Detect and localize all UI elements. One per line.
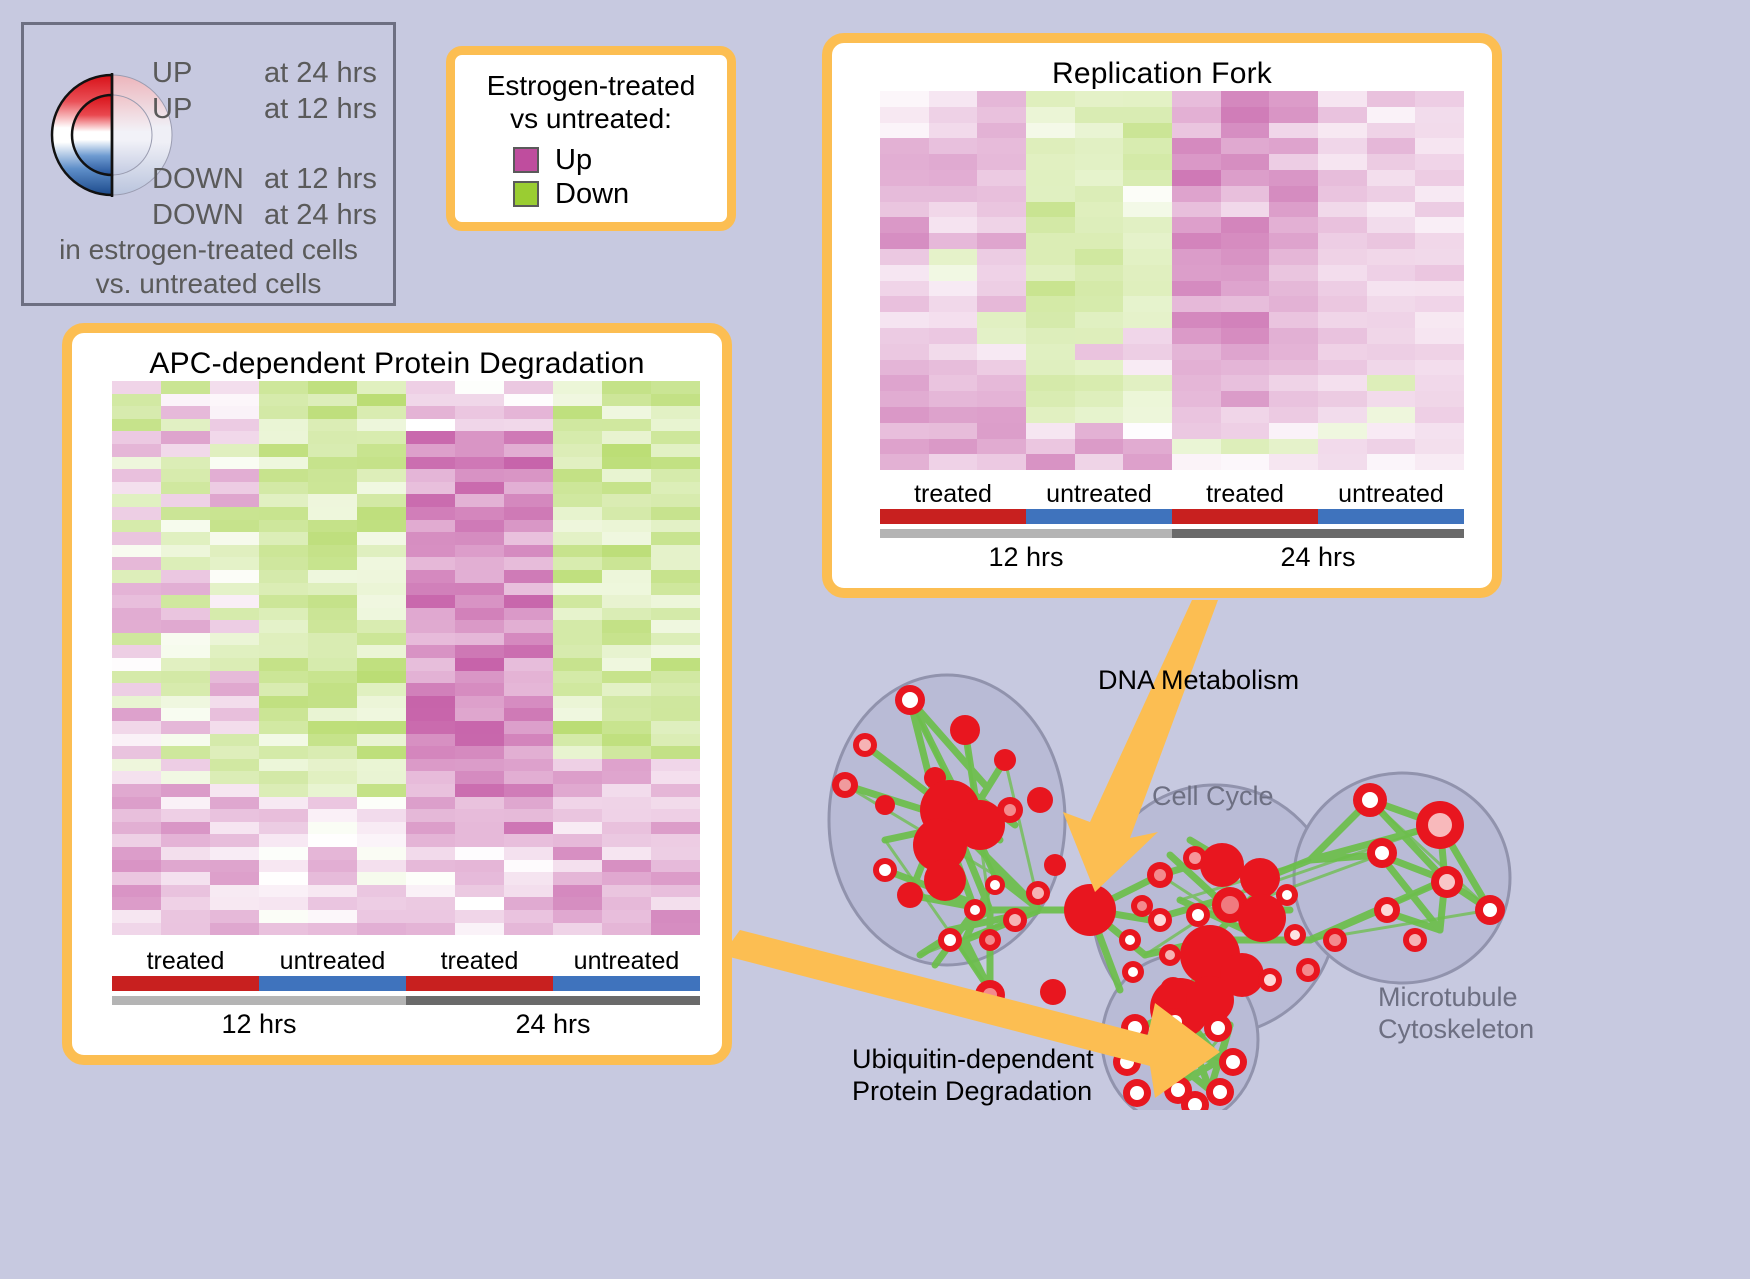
heatmap-cell [455,520,504,533]
heatmap-cell [1221,107,1270,123]
heatmap-cell [504,746,553,759]
heatmap-cell [602,784,651,797]
heatmap-cell [357,847,406,860]
heatmap-cell [455,570,504,583]
heatmap-cell [1221,312,1270,328]
time-label: 24 hrs [406,1009,700,1040]
heatmap-row [112,608,700,621]
heatmap-row [880,202,1464,218]
heatmap-cell [308,746,357,759]
heatmap-cell [1172,296,1221,312]
heatmap-cell [161,683,210,696]
heatmap-cell [553,885,602,898]
heatmap-cell [210,645,259,658]
heatmap-cell [880,391,929,407]
heatmap-cell [455,721,504,734]
heatmap-cell [1415,186,1464,202]
heatmap-cell [161,809,210,822]
heatmap-cell [161,797,210,810]
heatmap-cell [977,391,1026,407]
heatmap-cell [651,897,700,910]
heatmap-cell [210,620,259,633]
heatmap-cell [651,419,700,432]
heatmap-cell [112,457,161,470]
heatmap-cell [1269,360,1318,376]
heatmap-cell [651,885,700,898]
heatmap-cell [602,771,651,784]
heatmap-cell [1172,107,1221,123]
condition-label: treated [1172,480,1318,509]
heatmap-cell [1221,138,1270,154]
heatmap-cell [406,784,455,797]
heatmap-cell [602,583,651,596]
panel-replication-fork: Replication Fork treated untreated treat… [822,33,1502,598]
heatmap-cell [112,645,161,658]
heatmap-cell [977,328,1026,344]
heatmap-cell [602,847,651,860]
heatmap-cell [210,570,259,583]
heatmap-cell [406,419,455,432]
heatmap-cell [553,419,602,432]
heatmap-cell [651,545,700,558]
heatmap-cell [308,469,357,482]
heatmap-cell [880,312,929,328]
heatmap-cell [357,910,406,923]
heatmap-cell [1318,375,1367,391]
heatmap-cell [455,797,504,810]
condition-label: treated [880,480,1026,509]
heatmap-row [112,545,700,558]
heatmap-replication-fork [832,91,1492,470]
time-label: 12 hrs [880,542,1172,573]
heatmap-cell [602,520,651,533]
heatmap-row [112,633,700,646]
heatmap-cell [259,834,308,847]
heatmap-cell [1318,281,1367,297]
network-node [1040,979,1066,1005]
heatmap-cell [259,482,308,495]
heatmap-cell [1367,217,1416,233]
heatmap-cell [259,721,308,734]
heatmap-cell [1221,202,1270,218]
heatmap-cell [651,532,700,545]
heatmap-row [880,107,1464,123]
cluster-label-ubiquitin-degradation: Ubiquitin-dependentProtein Degradation [852,1043,1094,1108]
heatmap-cell [455,381,504,394]
heatmap-cell [1026,186,1075,202]
heatmap-cell [553,784,602,797]
heatmap-cell [1269,91,1318,107]
heatmap-cell [880,296,929,312]
heatmap-cell [308,645,357,658]
heatmap-cell [1026,217,1075,233]
heatmap-cell [161,545,210,558]
heatmap-cell [602,645,651,658]
heatmap-cell [504,532,553,545]
legend-time-label: at 24 hrs [264,199,377,232]
heatmap-cell [553,570,602,583]
heatmap-cell [1026,107,1075,123]
heatmap-cell [880,233,929,249]
heatmap-cell [504,708,553,721]
heatmap-cell [210,847,259,860]
heatmap-cell [406,910,455,923]
heatmap-cell [553,620,602,633]
updown-header-line-1: Estrogen-treated [455,69,727,102]
heatmap-cell [651,708,700,721]
heatmap-cell [455,847,504,860]
heatmap-cell [1221,154,1270,170]
heatmap-cell [1415,360,1464,376]
heatmap-cell [651,923,700,936]
heatmap-cell [504,671,553,684]
heatmap-cell [1367,454,1416,470]
condition-label: untreated [553,947,700,976]
heatmap-cell [308,557,357,570]
heatmap-cell [112,734,161,747]
heatmap-cell [553,507,602,520]
heatmap-cell [977,202,1026,218]
up-color-swatch [513,147,539,173]
down-color-swatch [513,181,539,207]
heatmap-cell [308,520,357,533]
network-node [897,882,923,908]
heatmap-cell [161,583,210,596]
heatmap-cell [1172,123,1221,139]
heatmap-cell [112,897,161,910]
heatmap-cell [504,860,553,873]
heatmap-cell [455,885,504,898]
heatmap-cell [308,721,357,734]
heatmap-row [112,645,700,658]
heatmap-cell [929,312,978,328]
heatmap-cell [210,545,259,558]
heatmap-cell [1269,439,1318,455]
heatmap-cell [651,658,700,671]
heatmap-cell [455,658,504,671]
heatmap-cell [357,759,406,772]
heatmap-cell [161,595,210,608]
heatmap-cell [651,608,700,621]
heatmap-cell [1221,186,1270,202]
legend-row: DOWN at 12 hrs [152,161,392,197]
time-color-bar [880,529,1464,538]
heatmap-cell [1221,439,1270,455]
heatmap-cell [259,570,308,583]
heatmap-cell [161,520,210,533]
heatmap-cell [1367,375,1416,391]
heatmap-cell [1269,249,1318,265]
condition-bar-segment [112,976,259,991]
heatmap-cell [406,633,455,646]
heatmap-cell [455,759,504,772]
heatmap-cell [357,557,406,570]
heatmap-cell [602,759,651,772]
heatmap-cell [357,620,406,633]
condition-bar-segment [553,976,700,991]
heatmap-cell [161,897,210,910]
heatmap-row [112,759,700,772]
heatmap-cell [308,797,357,810]
heatmap-cell [308,608,357,621]
heatmap-cell [259,897,308,910]
heatmap-row [112,658,700,671]
heatmap-cell [1026,360,1075,376]
heatmap-cell [455,608,504,621]
heatmap-cell [112,620,161,633]
heatmap-cell [1172,312,1221,328]
heatmap-cell [651,721,700,734]
heatmap-cell [1367,202,1416,218]
heatmap-cell [504,822,553,835]
heatmap-cell [602,683,651,696]
heatmap-cell [651,595,700,608]
heatmap-cell [112,419,161,432]
heatmap-cell [1269,296,1318,312]
heatmap-cell [1123,138,1172,154]
heatmap-cell [210,457,259,470]
heatmap-cell [455,406,504,419]
heatmap-cell [602,860,651,873]
heatmap-cell [259,406,308,419]
heatmap-cell [929,123,978,139]
heatmap-cell [1269,233,1318,249]
heatmap-cell [210,734,259,747]
heatmap-cell [602,608,651,621]
heatmap-cell [406,620,455,633]
heatmap-cell [112,797,161,810]
heatmap-row [880,454,1464,470]
heatmap-cell [406,608,455,621]
heatmap-cell [406,872,455,885]
heatmap-cell [112,494,161,507]
heatmap-row [880,328,1464,344]
heatmap-cell [602,545,651,558]
heatmap-cell [1075,249,1124,265]
heatmap-cell [112,885,161,898]
heatmap-cell [553,482,602,495]
heatmap-cell [880,217,929,233]
heatmap-cell [406,557,455,570]
heatmap-cell [553,696,602,709]
heatmap-cell [1318,344,1367,360]
heatmap-cell [1367,170,1416,186]
heatmap-cell [455,620,504,633]
heatmap-cell [406,683,455,696]
heatmap-row [112,809,700,822]
heatmap-cell [210,809,259,822]
heatmap-cell [455,557,504,570]
heatmap-cell [651,469,700,482]
heatmap-cell [161,444,210,457]
heatmap-cell [553,431,602,444]
heatmap-cell [406,520,455,533]
heatmap-cell [553,469,602,482]
heatmap-cell [357,444,406,457]
heatmap-cell [880,375,929,391]
heatmap-cell [406,809,455,822]
heatmap-cell [977,249,1026,265]
heatmap-cell [406,494,455,507]
heatmap-cell [406,822,455,835]
heatmap-cell [161,771,210,784]
heatmap-row [112,822,700,835]
heatmap-cell [161,608,210,621]
heatmap-cell [161,822,210,835]
heatmap-cell [308,822,357,835]
heatmap-cell [504,457,553,470]
heatmap-cell [112,746,161,759]
heatmap-cell [504,910,553,923]
down-label: Down [555,178,629,211]
condition-label: untreated [1026,480,1172,509]
heatmap-cell [1026,154,1075,170]
heatmap-cell [259,381,308,394]
heatmap-cell [406,885,455,898]
heatmap-row [880,265,1464,281]
heatmap-cell [161,419,210,432]
heatmap-cell [357,645,406,658]
heatmap-cell [1026,138,1075,154]
heatmap-cell [1075,454,1124,470]
heatmap-cell [977,233,1026,249]
heatmap-cell [210,406,259,419]
heatmap-cell [161,734,210,747]
heatmap-cell [455,595,504,608]
heatmap-cell [210,494,259,507]
heatmap-cell [553,771,602,784]
heatmap-cell [1269,454,1318,470]
heatmap-cell [259,809,308,822]
heatmap-cell [977,312,1026,328]
heatmap-row [880,217,1464,233]
condition-label: treated [406,947,553,976]
heatmap-cell [357,872,406,885]
heatmap-cell [651,520,700,533]
heatmap-row [880,249,1464,265]
updown-legend-header: Estrogen-treated vs untreated: [455,55,727,135]
heatmap-cell [112,834,161,847]
heatmap-cell [455,834,504,847]
heatmap-cell [602,595,651,608]
heatmap-cell [308,583,357,596]
heatmap-cell [1123,296,1172,312]
heatmap-cell [1269,202,1318,218]
heatmap-row [112,520,700,533]
heatmap-cell [357,822,406,835]
heatmap-cell [880,123,929,139]
heatmap-cell [308,847,357,860]
heatmap-cell [259,708,308,721]
heatmap-cell [161,923,210,936]
heatmap-cell [504,834,553,847]
heatmap-cell [1367,265,1416,281]
heatmap-cell [1221,344,1270,360]
heatmap-cell [259,683,308,696]
heatmap-cell [455,784,504,797]
heatmap-cell [553,746,602,759]
heatmap-cell [1221,123,1270,139]
heatmap-cell [1075,312,1124,328]
heatmap-cell [406,583,455,596]
heatmap-cell [210,897,259,910]
heatmap-cell [1026,423,1075,439]
heatmap-cell [602,885,651,898]
network-node [1200,843,1244,887]
heatmap-cell [504,482,553,495]
heatmap-cell [259,595,308,608]
heatmap-cell [1415,454,1464,470]
heatmap-cell [1172,170,1221,186]
heatmap-cell [553,494,602,507]
heatmap-cell [455,822,504,835]
heatmap-cell [504,419,553,432]
heatmap-cell [602,897,651,910]
heatmap-cell [651,834,700,847]
heatmap-cell [1172,138,1221,154]
heatmap-cell [1221,281,1270,297]
up-label: Up [555,144,592,177]
heatmap-cell [602,696,651,709]
heatmap-row [880,123,1464,139]
heatmap-cell [357,507,406,520]
heatmap-row [112,394,700,407]
heatmap-cell [112,381,161,394]
heatmap-cell [161,532,210,545]
heatmap-cell [161,872,210,885]
heatmap-cell [929,170,978,186]
legend-row: DOWN at 24 hrs [152,197,392,233]
heatmap-cell [1172,407,1221,423]
heatmap-row [112,620,700,633]
heatmap-cell [929,217,978,233]
heatmap-cell [161,721,210,734]
heatmap-cell [1026,202,1075,218]
heatmap-cell [504,620,553,633]
heatmap-cell [210,381,259,394]
heatmap-cell [112,822,161,835]
heatmap-cell [553,923,602,936]
heatmap-cell [112,545,161,558]
heatmap-cell [602,671,651,684]
heatmap-cell [1026,249,1075,265]
heatmap-cell [210,595,259,608]
heatmap-cell [1075,296,1124,312]
heatmap-cell [161,671,210,684]
legend-direction-label: UP [152,57,264,90]
heatmap-cell [455,469,504,482]
time-label: 12 hrs [112,1009,406,1040]
heatmap-cell [553,809,602,822]
heatmap-cell [1123,202,1172,218]
heatmap-cell [1172,360,1221,376]
heatmap-cell [308,872,357,885]
heatmap-cell [553,633,602,646]
time-bar-segment [112,996,406,1005]
heatmap-cell [1221,296,1270,312]
legend-row: UP at 24 hrs [152,55,392,91]
heatmap-cell [357,809,406,822]
heatmap-cell [1269,423,1318,439]
heatmap-cell [1075,186,1124,202]
heatmap-cell [602,721,651,734]
heatmap-cell [929,249,978,265]
heatmap-cell [651,784,700,797]
heatmap-cell [210,759,259,772]
condition-labels: treated untreated treated untreated [880,480,1464,509]
heatmap-cell [308,570,357,583]
heatmap-row [112,381,700,394]
